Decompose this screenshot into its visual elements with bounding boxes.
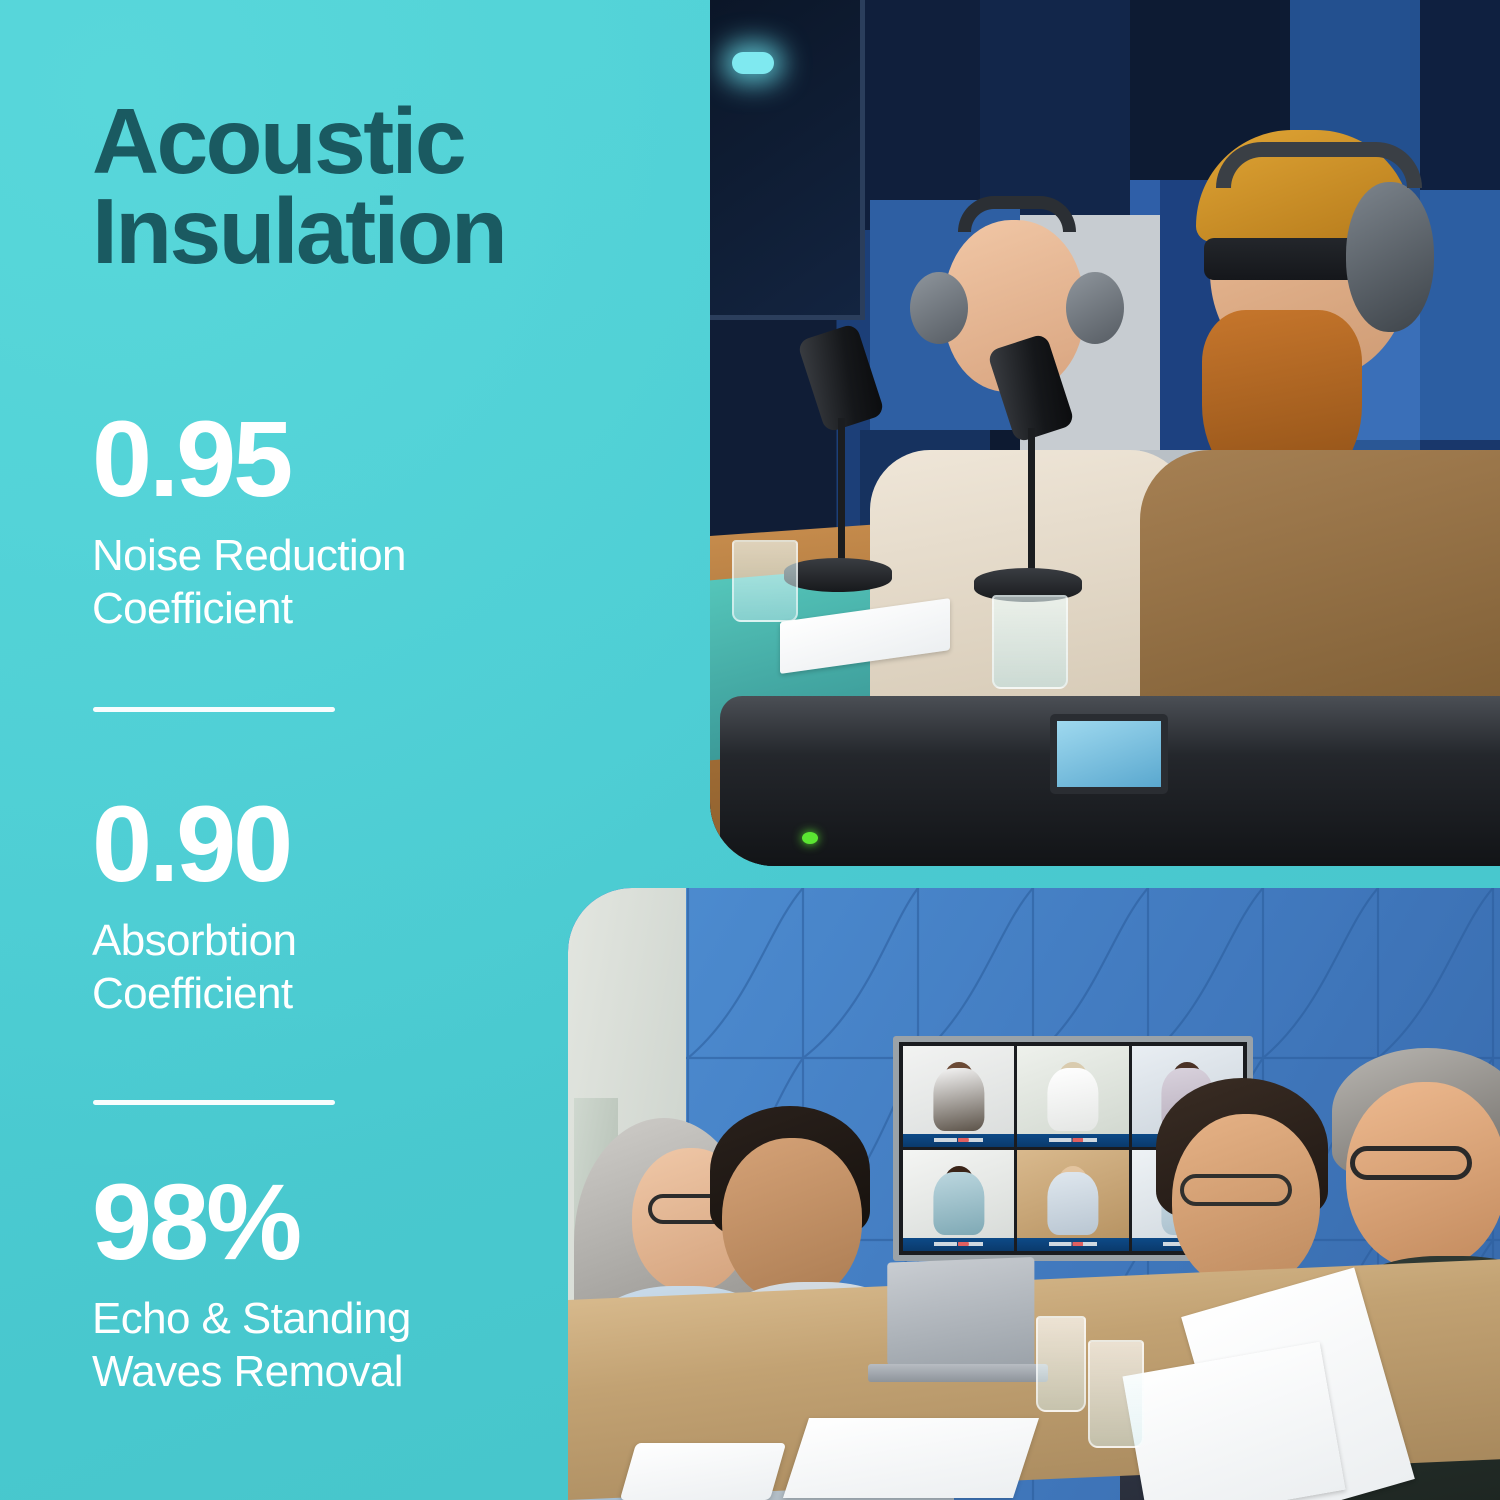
page-title: Acoustic Insulation xyxy=(92,96,692,276)
stat-label-line-2: Coefficient xyxy=(92,583,652,636)
audio-mixing-console xyxy=(720,696,1500,866)
notepad-on-table xyxy=(620,1443,786,1500)
neon-light-icon xyxy=(732,52,774,74)
mixer-led-indicator xyxy=(802,832,818,844)
stat-label-line-1: Noise Reduction xyxy=(92,530,652,583)
paper-on-table-left xyxy=(783,1418,1039,1498)
video-tile xyxy=(1017,1046,1128,1147)
page-title-line-1: Acoustic xyxy=(92,96,692,186)
page-title-line-2: Insulation xyxy=(92,186,692,276)
stat-divider-1 xyxy=(93,707,335,712)
photo-podcast-studio xyxy=(710,0,1500,866)
microphone-right xyxy=(1000,340,1062,436)
person-man-podcaster xyxy=(1150,120,1500,640)
water-glass-left xyxy=(732,540,798,622)
studio-wall-monitor xyxy=(710,0,865,320)
mixer-display-screen xyxy=(1050,714,1168,794)
stat-block-noise-reduction: 0.95 Noise Reduction Coefficient xyxy=(92,405,652,636)
stat-value-noise-reduction: 0.95 xyxy=(92,405,652,513)
stat-divider-2 xyxy=(93,1100,335,1105)
stat-value-absorbtion: 0.90 xyxy=(92,790,652,898)
laptop xyxy=(868,1264,1048,1382)
photo-conference-room xyxy=(568,888,1500,1500)
water-glass-center xyxy=(992,595,1068,689)
stat-label-noise-reduction: Noise Reduction Coefficient xyxy=(92,530,652,636)
water-glass-b xyxy=(1088,1340,1144,1448)
microphone-left xyxy=(810,330,872,426)
water-glass-a xyxy=(1036,1316,1086,1412)
video-tile xyxy=(1017,1150,1128,1251)
